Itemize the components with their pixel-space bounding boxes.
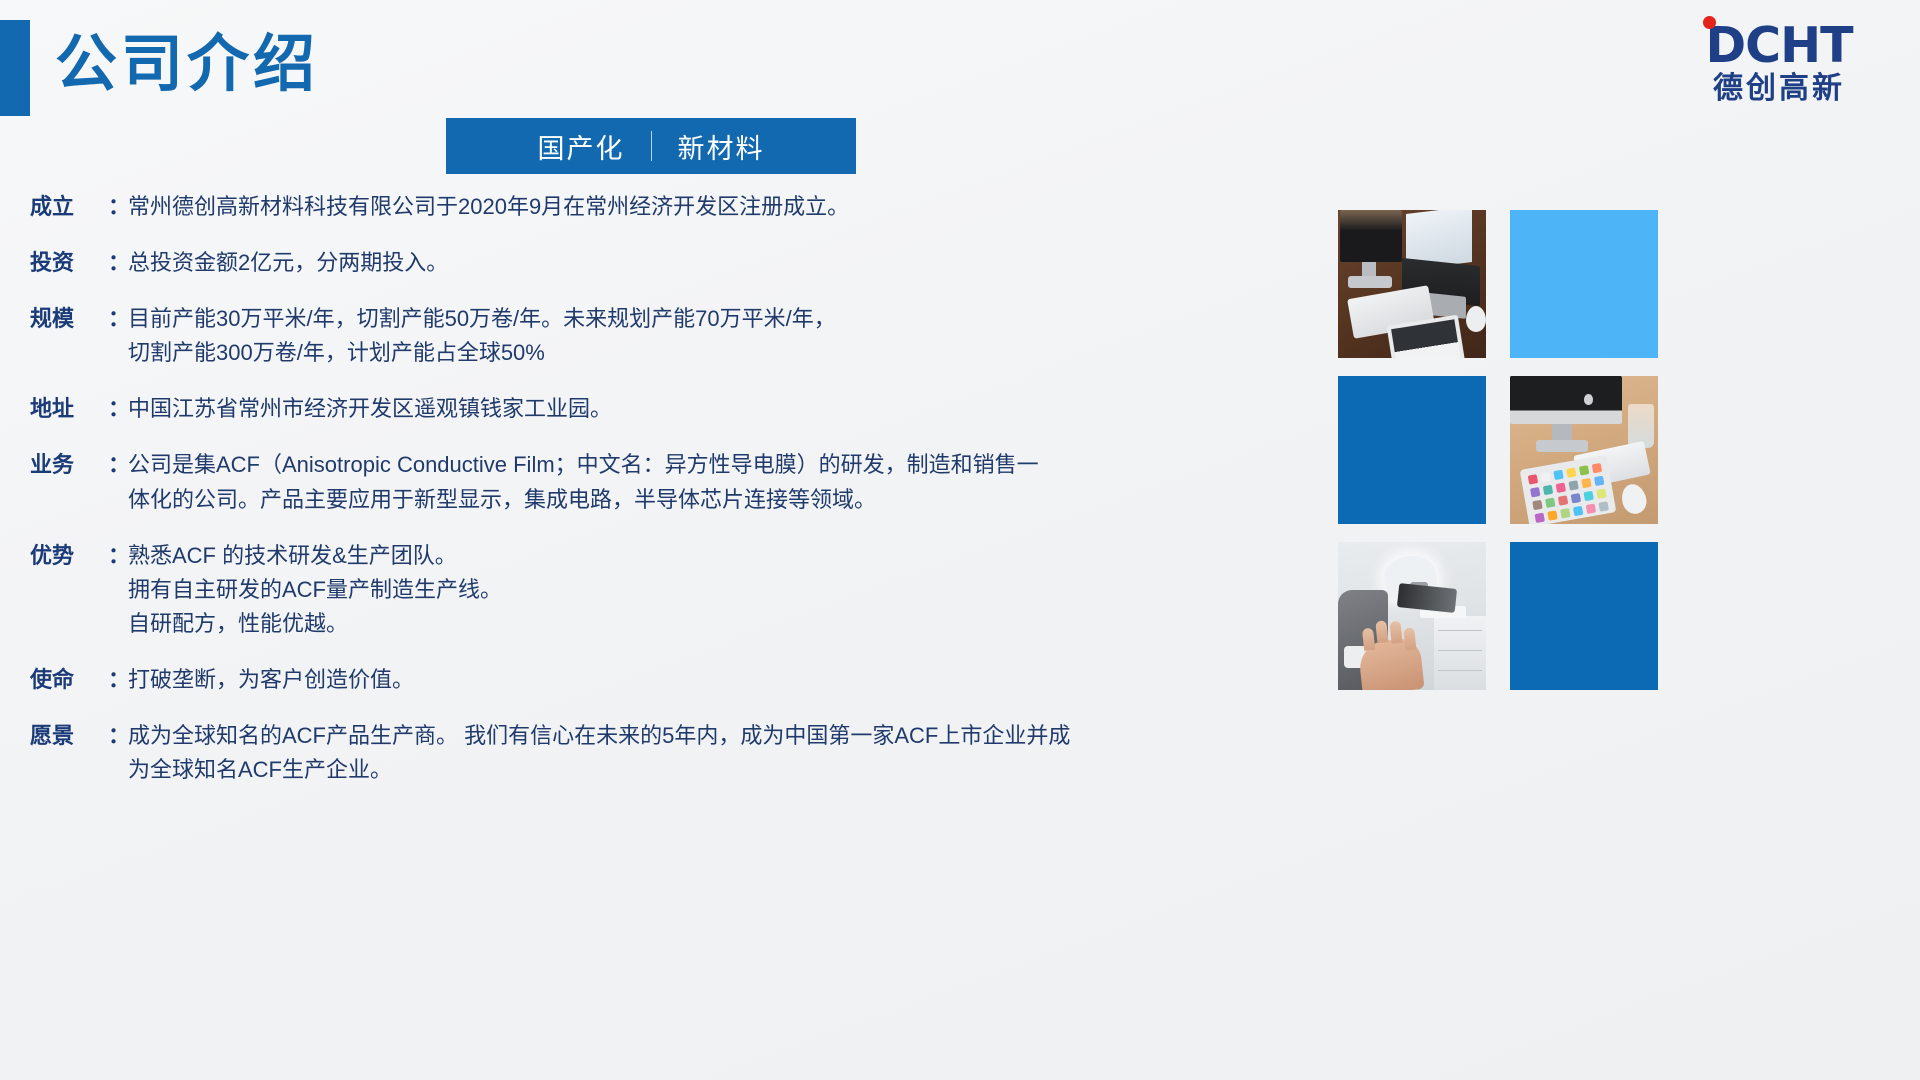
logo-subtitle: 德创高新 xyxy=(1713,72,1845,105)
info-colon: ： xyxy=(108,246,128,280)
tagline-divider xyxy=(651,131,652,161)
logo-wordmark: DCHT xyxy=(1705,23,1852,70)
grid-block-dark-blue xyxy=(1338,376,1486,524)
info-text: 目前产能30万平米/年，切割产能50万卷/年。未来规划产能70万平米/年， 切割… xyxy=(128,302,1100,370)
info-text: 熟悉ACF 的技术研发&生产团队。 拥有自主研发的ACF量产制造生产线。 自研配… xyxy=(128,539,1100,641)
info-colon: ： xyxy=(108,663,128,697)
info-row-vision: 愿景 ： 成为全球知名的ACF产品生产商。 我们有信心在未来的5年内，成为中国第… xyxy=(30,719,1100,787)
info-colon: ： xyxy=(108,392,128,426)
info-row-mission: 使命 ： 打破垄断，为客户创造价值。 xyxy=(30,663,1100,697)
info-text: 打破垄断，为客户创造价值。 xyxy=(128,663,1100,697)
tagline-left: 国产化 xyxy=(538,127,625,166)
info-row-investment: 投资 ： 总投资金额2亿元，分两期投入。 xyxy=(30,246,1100,280)
info-text: 中国江苏省常州市经济开发区遥观镇钱家工业园。 xyxy=(128,392,1100,426)
info-text: 总投资金额2亿元，分两期投入。 xyxy=(128,246,1100,280)
grid-photo-desk-light xyxy=(1510,376,1658,524)
info-row-scale: 规模 ： 目前产能30万平米/年，切割产能50万卷/年。未来规划产能70万平米/… xyxy=(30,302,1100,370)
info-row-founded: 成立 ： 常州德创高新材料科技有限公司于2020年9月在常州经济开发区注册成立。 xyxy=(30,190,1100,224)
info-row-address: 地址 ： 中国江苏省常州市经济开发区遥观镇钱家工业园。 xyxy=(30,392,1100,426)
grid-block-light-blue xyxy=(1510,210,1658,358)
logo-red-dot-icon xyxy=(1703,16,1716,29)
info-label: 投资 xyxy=(30,246,108,280)
info-label: 使命 xyxy=(30,663,108,697)
info-colon: ： xyxy=(108,719,128,753)
info-label: 规模 xyxy=(30,302,108,336)
tagline-banner: 国产化 新材料 xyxy=(446,118,856,174)
info-text: 公司是集ACF（Anisotropic Conductive Film；中文名：… xyxy=(128,448,1100,516)
logo-mark: DCHT xyxy=(1705,20,1852,70)
grid-block-dark-blue xyxy=(1510,542,1658,690)
info-label: 成立 xyxy=(30,190,108,224)
info-text: 常州德创高新材料科技有限公司于2020年9月在常州经济开发区注册成立。 xyxy=(128,190,1100,224)
info-label: 业务 xyxy=(30,448,108,482)
info-colon: ： xyxy=(108,448,128,482)
title-accent-bar xyxy=(0,20,30,116)
info-label: 优势 xyxy=(30,539,108,573)
info-text: 成为全球知名的ACF产品生产商。 我们有信心在未来的5年内，成为中国第一家ACF… xyxy=(128,719,1100,787)
info-label: 地址 xyxy=(30,392,108,426)
info-colon: ： xyxy=(108,302,128,336)
page-title: 公司介绍 xyxy=(55,26,319,104)
info-row-business: 业务 ： 公司是集ACF（Anisotropic Conductive Film… xyxy=(30,448,1100,516)
image-grid xyxy=(1338,210,1658,690)
info-colon: ： xyxy=(108,190,128,224)
info-colon: ： xyxy=(108,539,128,573)
grid-photo-clinic xyxy=(1338,542,1486,690)
tagline-right: 新材料 xyxy=(678,127,765,166)
company-info-list: 成立 ： 常州德创高新材料科技有限公司于2020年9月在常州经济开发区注册成立。… xyxy=(30,190,1100,809)
info-label: 愿景 xyxy=(30,719,108,753)
company-logo: DCHT 德创高新 xyxy=(1664,10,1894,114)
info-row-advantage: 优势 ： 熟悉ACF 的技术研发&生产团队。 拥有自主研发的ACF量产制造生产线… xyxy=(30,539,1100,641)
grid-photo-desk-dark xyxy=(1338,210,1486,358)
